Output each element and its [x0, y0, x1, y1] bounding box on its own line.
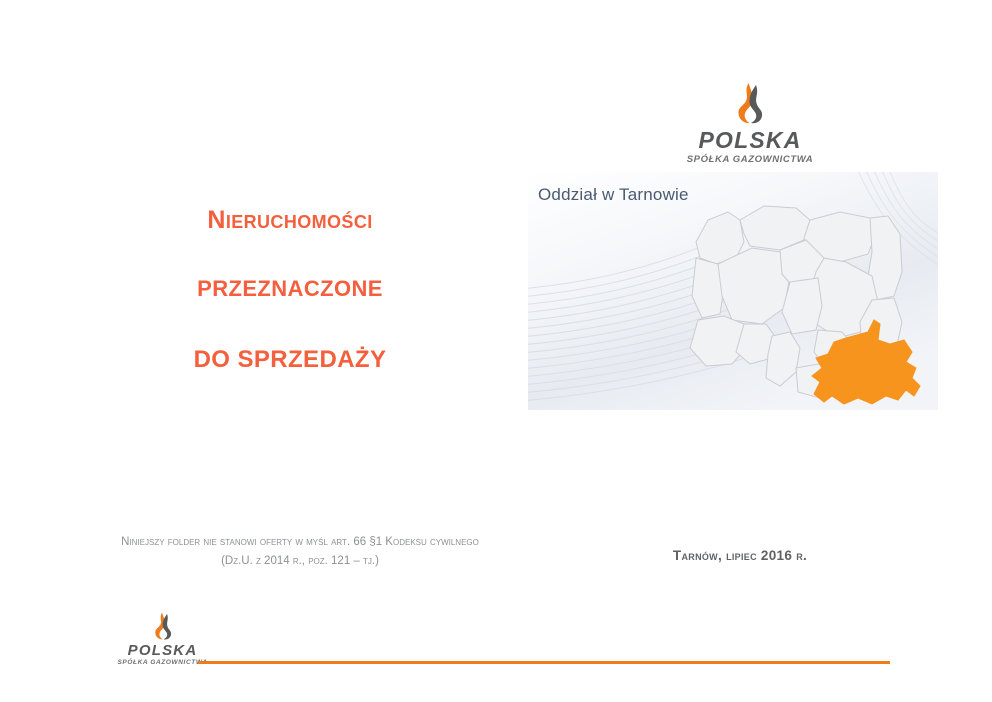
disclaimer-line-2: (Dz.U. z 2014 r., poz. 121 – tj.) [60, 552, 540, 571]
date-line: Tarnów, lipiec 2016 r. [600, 548, 880, 563]
disclaimer-line-1: Niniejszy folder nie stanowi oferty w my… [60, 533, 540, 552]
brand-name: POLSKA [660, 129, 840, 152]
footer-divider [198, 661, 890, 664]
headline-line-2: PRZEZNACZONE [80, 278, 500, 300]
flame-icon [151, 612, 175, 640]
map-title: Oddział w Tarnowie [538, 185, 689, 205]
headline-line-1: Nieruchomości [80, 208, 500, 233]
brand-subtitle: SPÓŁKA GAZOWNICTWA [660, 155, 840, 165]
disclaimer: Niniejszy folder nie stanowi oferty w my… [60, 533, 540, 571]
headline-block: Nieruchomości PRZEZNACZONE DO SPRZEDAŻY [80, 208, 500, 372]
footer-brand-logo: POLSKA SPÓŁKA GAZOWNICTWA [100, 612, 225, 667]
headline-line-3: DO SPRZEDAŻY [80, 348, 500, 372]
poland-map-graphic [528, 172, 938, 410]
flame-icon [732, 82, 768, 124]
brand-name: POLSKA [100, 643, 225, 658]
header-brand-logo: POLSKA SPÓŁKA GAZOWNICTWA [660, 82, 840, 165]
map-panel: Oddział w Tarnowie [528, 172, 938, 410]
